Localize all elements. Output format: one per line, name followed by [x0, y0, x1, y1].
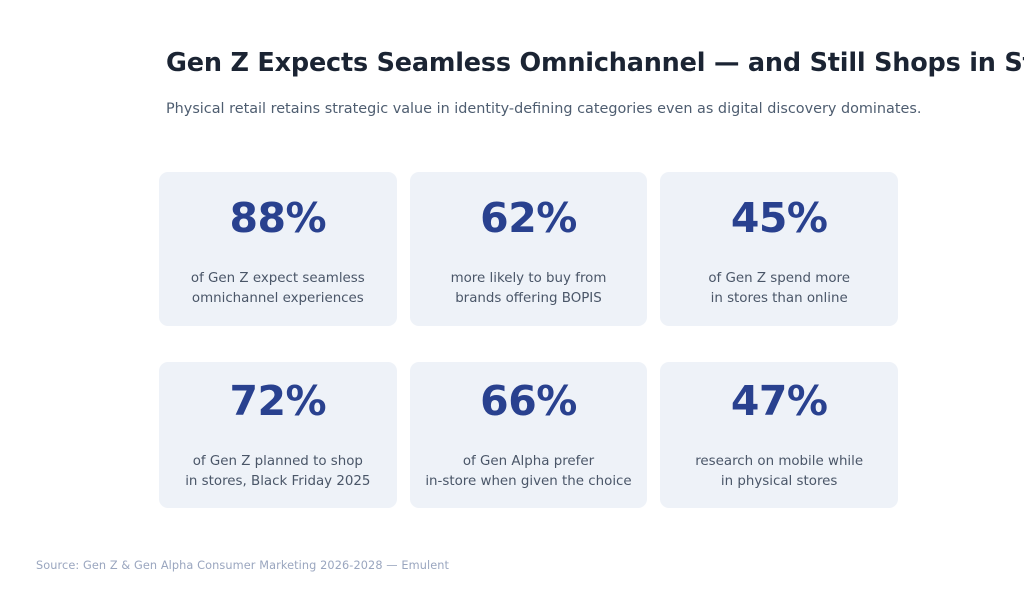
stat-label: more likely to buy from brands offering … — [451, 269, 607, 307]
stat-card: 72% of Gen Z planned to shop in stores, … — [159, 362, 397, 508]
stat-value: 88% — [230, 198, 327, 239]
stat-label: of Gen Alpha prefer in-store when given … — [425, 452, 631, 490]
stat-value: 62% — [480, 198, 577, 239]
stat-value: 45% — [731, 198, 828, 239]
stat-label: of Gen Z planned to shop in stores, Blac… — [185, 452, 370, 490]
stat-label: of Gen Z expect seamless omnichannel exp… — [191, 269, 365, 307]
stat-value: 72% — [230, 381, 327, 422]
stat-card: 45% of Gen Z spend more in stores than o… — [660, 172, 898, 326]
page-title: Gen Z Expects Seamless Omnichannel — and… — [166, 48, 966, 79]
slide-header: Gen Z Expects Seamless Omnichannel — and… — [166, 48, 966, 119]
page-subtitle: Physical retail retains strategic value … — [166, 79, 966, 120]
stat-card: 88% of Gen Z expect seamless omnichannel… — [159, 172, 397, 326]
stat-value: 66% — [480, 381, 577, 422]
stat-label: research on mobile while in physical sto… — [695, 452, 863, 490]
stat-card: 47% research on mobile while in physical… — [660, 362, 898, 508]
stat-card: 62% more likely to buy from brands offer… — [410, 172, 648, 326]
stat-card-grid: 88% of Gen Z expect seamless omnichannel… — [159, 172, 898, 508]
source-attribution: Source: Gen Z & Gen Alpha Consumer Marke… — [36, 559, 449, 574]
stat-card: 66% of Gen Alpha prefer in-store when gi… — [410, 362, 648, 508]
stat-label: of Gen Z spend more in stores than onlin… — [708, 269, 850, 307]
infographic-slide: Gen Z Expects Seamless Omnichannel — and… — [0, 0, 1024, 609]
stat-value: 47% — [731, 381, 828, 422]
